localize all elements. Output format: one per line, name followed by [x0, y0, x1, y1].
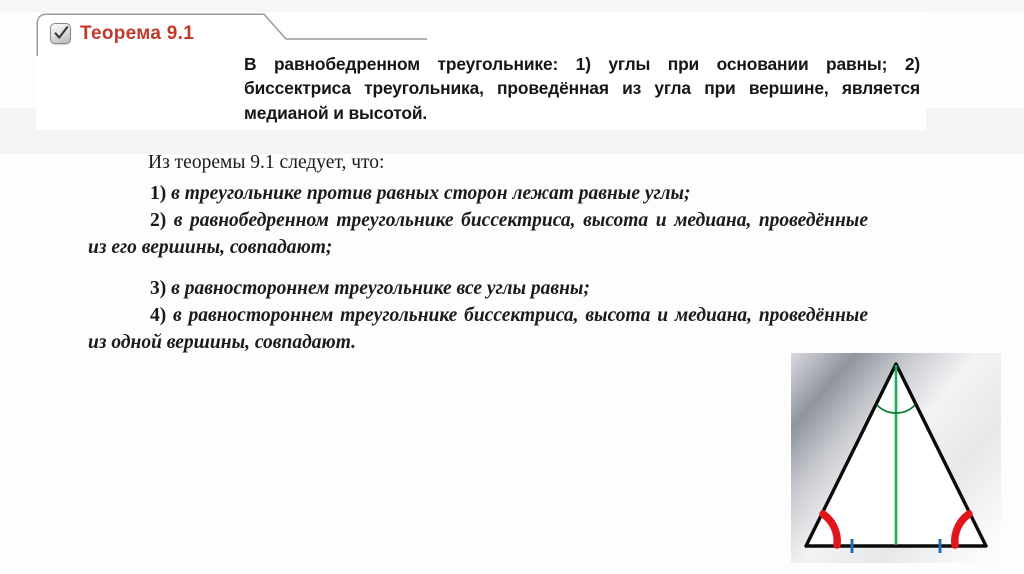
checkbox-checked-icon — [50, 23, 71, 44]
consequence-item-2-number: 2) — [150, 210, 166, 231]
consequence-item-2: 2) в равнобедренном треугольнике биссект… — [88, 207, 868, 261]
consequence-item-3-number: 3) — [150, 278, 166, 299]
consequence-item-4-text: в равностороннем треугольнике биссектрис… — [88, 305, 868, 353]
theorem-tab-label-row: Теорема 9.1 — [50, 20, 194, 46]
isosceles-triangle-figure — [791, 353, 1001, 563]
consequence-item-3-text: в равностороннем треугольнике все углы р… — [171, 278, 590, 299]
consequence-item-1-text: в треугольнике против равных сторон лежа… — [171, 183, 690, 204]
consequence-item-3: 3) в равностороннем треугольнике все угл… — [88, 275, 868, 302]
consequence-item-4: 4) в равностороннем треугольнике биссект… — [88, 302, 868, 356]
isosceles-triangle-svg — [791, 353, 1001, 563]
consequences-lead: Из теоремы 9.1 следует, что: — [148, 150, 868, 176]
consequence-item-2-text: в равнобедренном треугольнике биссектрис… — [88, 210, 868, 258]
background-band-top — [0, 0, 1024, 12]
theorem-statement-text: В равнобедренном треугольнике: 1) углы п… — [244, 52, 920, 125]
consequences-block: Из теоремы 9.1 следует, что: 1) в треуго… — [88, 150, 868, 356]
theorem-statement: В равнобедренном треугольнике: 1) углы п… — [244, 52, 920, 125]
consequence-item-4-number: 4) — [150, 305, 166, 326]
consequence-item-1-number: 1) — [150, 183, 166, 204]
consequence-item-1: 1) в треугольнике против равных сторон л… — [88, 180, 868, 207]
theorem-callout-box: Теорема 9.1 В равнобедренном треугольник… — [36, 12, 926, 130]
page-canvas: Теорема 9.1 В равнобедренном треугольник… — [0, 0, 1024, 574]
theorem-title: Теорема 9.1 — [80, 23, 194, 44]
